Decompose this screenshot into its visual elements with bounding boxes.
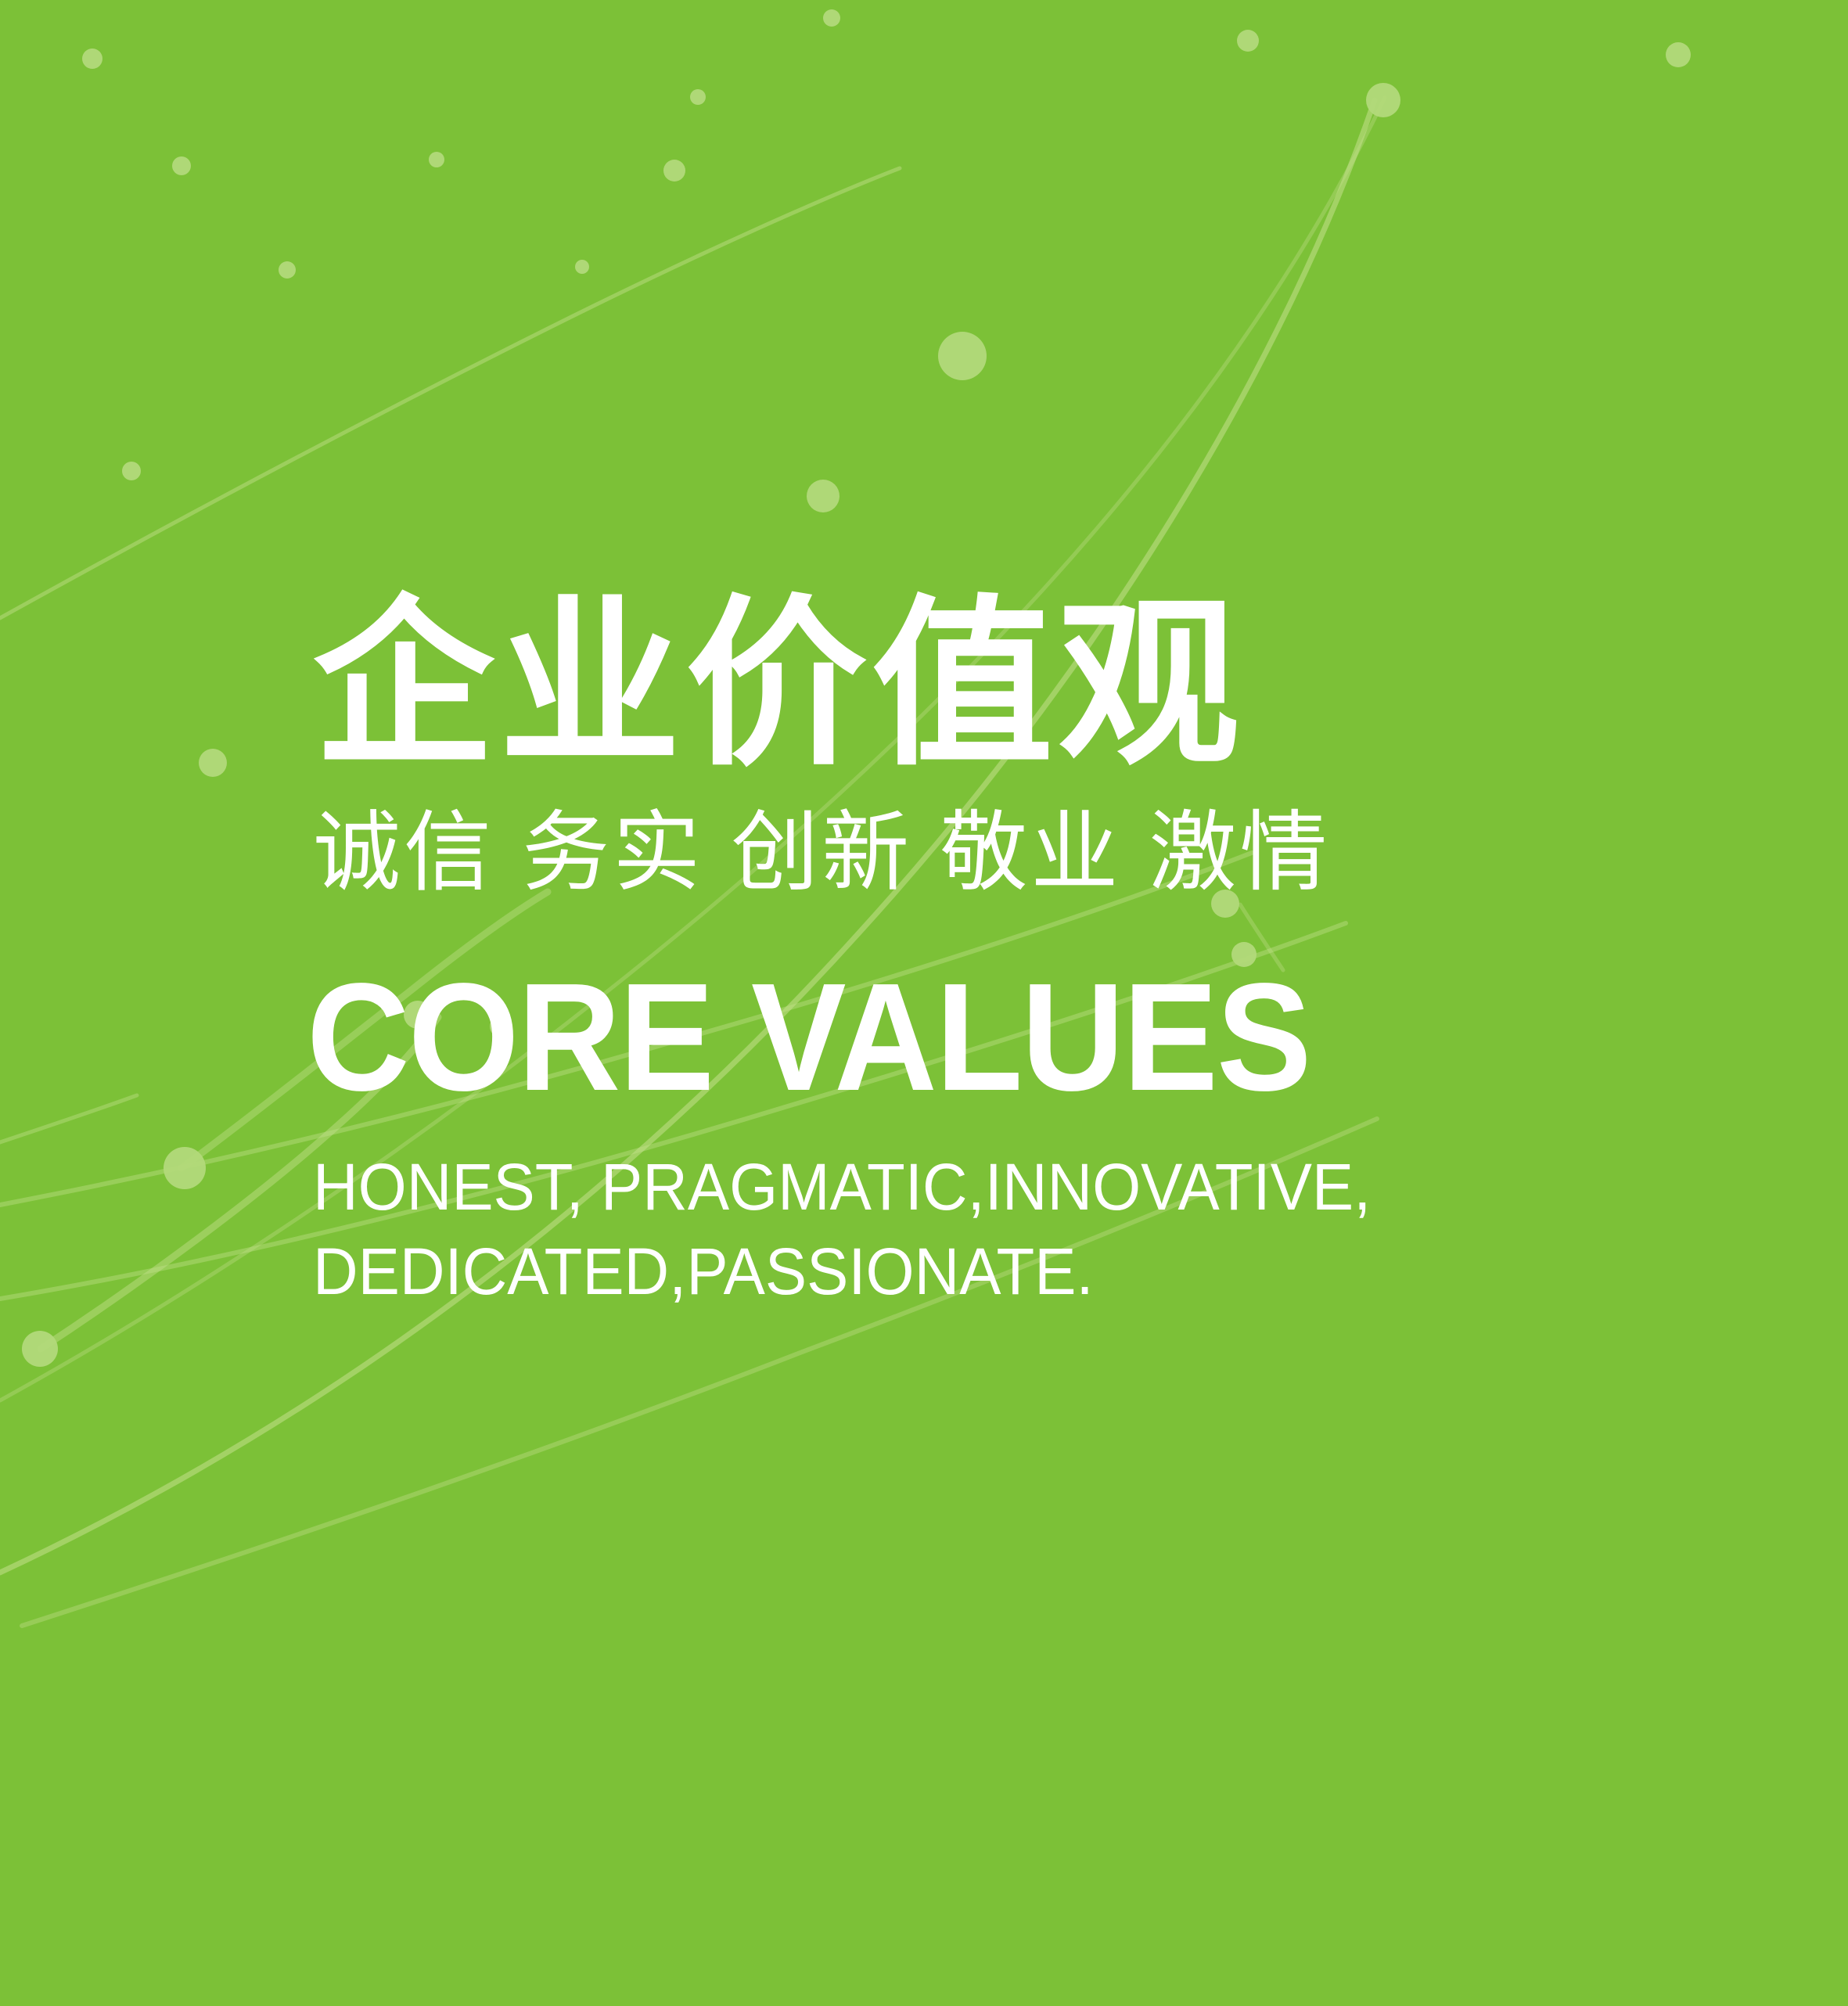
text-block: 企业价值观 诚信 务实 创新 敬业 激情 CORE VALUES HONEST,… [313,595,1721,1314]
core-values-banner: 企业价值观 诚信 务实 创新 敬业 激情 CORE VALUES HONEST,… [0,0,1848,2006]
node [807,480,840,512]
node [663,160,685,182]
node [164,1147,206,1189]
subtitle-english-line-1: HONEST, PRAGMATIC,INNOVATIVE, [313,1145,1651,1230]
node [429,152,444,167]
node [690,89,706,105]
page-title-chinese: 企业价值观 [313,595,1721,776]
node [199,749,227,777]
node [279,261,296,279]
node [1666,42,1691,67]
page-title-english: CORE VALUES [307,961,1622,1114]
node [172,156,191,175]
node [122,462,141,480]
node [82,49,102,69]
node [22,1331,58,1367]
subtitle-english: HONEST, PRAGMATIC,INNOVATIVE, DEDICATED,… [313,1145,1651,1314]
node [938,332,987,380]
subtitle-english-line-2: DEDICATED,PASSIONATE. [313,1230,1651,1314]
node [823,9,840,27]
node [1366,83,1400,117]
subtitle-chinese: 诚信 务实 创新 敬业 激情 [313,809,1721,897]
node [1237,30,1259,52]
node [575,260,589,274]
